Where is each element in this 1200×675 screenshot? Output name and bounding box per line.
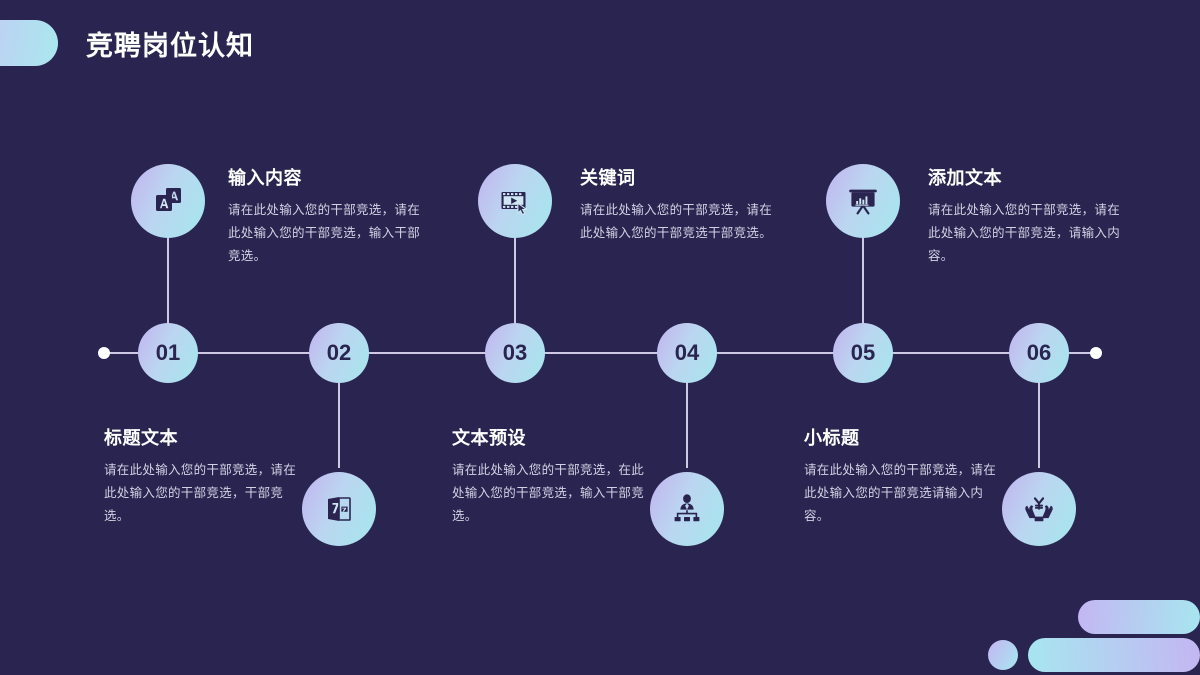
icon-circle-02[interactable] bbox=[302, 472, 376, 546]
timeline-node-04[interactable]: 04 bbox=[657, 323, 717, 383]
timeline-block-05: 添加文本 请在此处输入您的干部竞选，请在此处输入您的干部竞选，请输入内容。 bbox=[928, 164, 1128, 268]
block-heading-06: 小标题 bbox=[804, 424, 1004, 450]
timeline-axis-line bbox=[105, 352, 1095, 354]
video-click-icon bbox=[497, 183, 533, 219]
block-heading-02: 标题文本 bbox=[104, 424, 304, 450]
timeline-node-05[interactable]: 05 bbox=[833, 323, 893, 383]
block-body-04: 请在此处输入您的干部竞选，在此处输入您的干部竞选，输入干部竞选。 bbox=[452, 459, 652, 528]
icon-circle-03[interactable] bbox=[478, 164, 552, 238]
timeline-block-04: 文本预设 请在此处输入您的干部竞选，在此处输入您的干部竞选，输入干部竞选。 bbox=[452, 424, 652, 528]
block-body-06: 请在此处输入您的干部竞选，请在此处输入您的干部竞选请输入内容。 bbox=[804, 459, 1004, 528]
stem-04 bbox=[686, 383, 688, 468]
block-heading-05: 添加文本 bbox=[928, 164, 1128, 190]
block-body-01: 请在此处输入您的干部竞选，请在此处输入您的干部竞选，输入干部竞选。 bbox=[228, 199, 428, 268]
presentation-chart-icon bbox=[845, 183, 881, 219]
timeline-block-02: 标题文本 请在此处输入您的干部竞选，请在此处输入您的干部竞选，干部竞选。 bbox=[104, 424, 304, 528]
icon-circle-04[interactable] bbox=[650, 472, 724, 546]
timeline-node-02[interactable]: 02 bbox=[309, 323, 369, 383]
block-heading-03: 关键词 bbox=[580, 164, 780, 190]
timeline-block-06: 小标题 请在此处输入您的干部竞选，请在此处输入您的干部竞选请输入内容。 bbox=[804, 424, 1004, 528]
timeline-node-06[interactable]: 06 bbox=[1009, 323, 1069, 383]
block-heading-04: 文本预设 bbox=[452, 424, 652, 450]
timeline-node-01[interactable]: 01 bbox=[138, 323, 198, 383]
timeline-block-03: 关键词 请在此处输入您的干部竞选，请在此处输入您的干部竞选干部竞选。 bbox=[580, 164, 780, 245]
hands-money-icon bbox=[1021, 491, 1057, 527]
timeline-start-dot bbox=[98, 347, 110, 359]
org-chart-icon bbox=[669, 491, 705, 527]
block-body-05: 请在此处输入您的干部竞选，请在此处输入您的干部竞选，请输入内容。 bbox=[928, 199, 1128, 268]
icon-circle-05[interactable] bbox=[826, 164, 900, 238]
timeline-node-03[interactable]: 03 bbox=[485, 323, 545, 383]
timeline: 01 02 03 04 05 06 bbox=[0, 0, 1200, 675]
stem-05 bbox=[862, 238, 864, 323]
stem-01 bbox=[167, 238, 169, 323]
timeline-end-dot bbox=[1090, 347, 1102, 359]
block-body-02: 请在此处输入您的干部竞选，请在此处输入您的干部竞选，干部竞选。 bbox=[104, 459, 304, 528]
icon-circle-01[interactable] bbox=[131, 164, 205, 238]
stem-02 bbox=[338, 383, 340, 468]
block-heading-01: 输入内容 bbox=[228, 164, 428, 190]
archive-7z-icon bbox=[321, 491, 357, 527]
block-body-03: 请在此处输入您的干部竞选，请在此处输入您的干部竞选干部竞选。 bbox=[580, 199, 780, 245]
stem-06 bbox=[1038, 383, 1040, 468]
icon-circle-06[interactable] bbox=[1002, 472, 1076, 546]
translate-icon bbox=[150, 183, 186, 219]
stem-03 bbox=[514, 238, 516, 323]
timeline-block-01: 输入内容 请在此处输入您的干部竞选，请在此处输入您的干部竞选，输入干部竞选。 bbox=[228, 164, 428, 268]
